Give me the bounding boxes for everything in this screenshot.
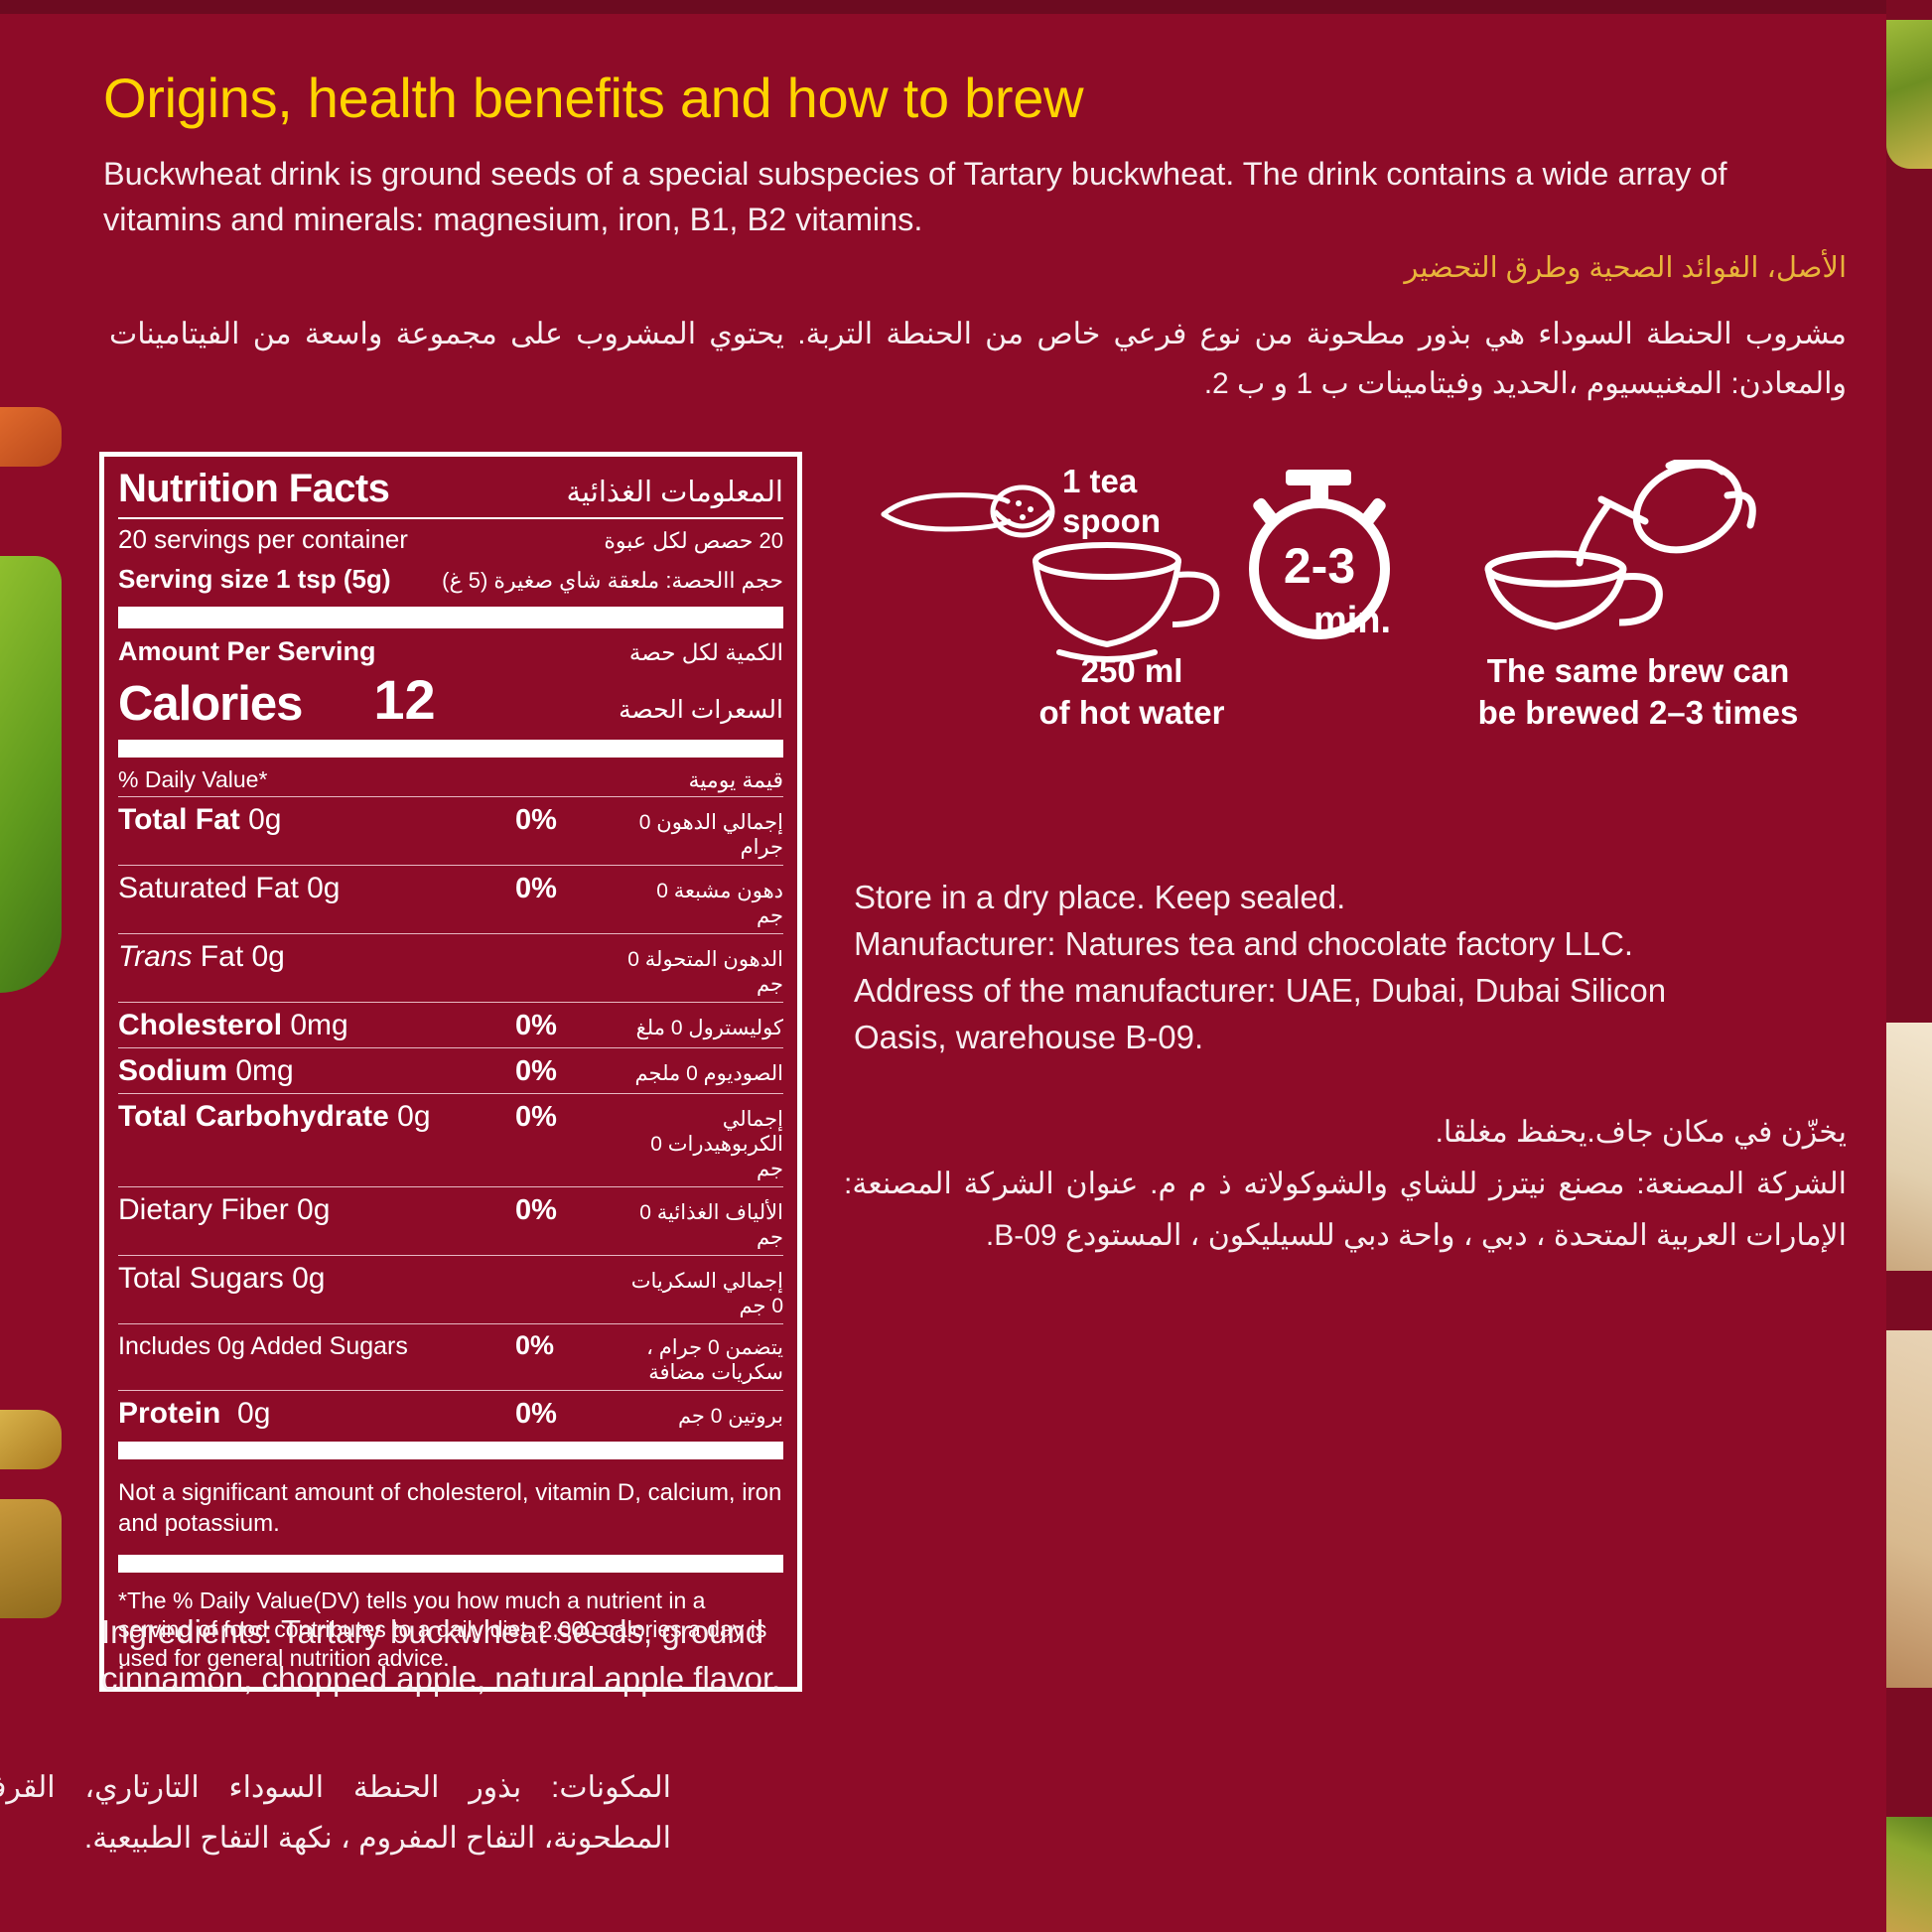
nutrient-daily-value: 0%	[515, 1398, 624, 1431]
page-title-arabic: الأصل، الفوائد الصحية وطرق التحضير	[1404, 250, 1847, 285]
nutrient-row: Protein 0g0%بروتين 0 جم	[118, 1391, 783, 1436]
brewing-instructions: 1 tea spoon 250 ml of hot water 2-3 min.	[874, 452, 1847, 779]
reuse-label-line1: The same brew can	[1430, 650, 1847, 692]
serving-size-label-arabic: حجم االحصة: ملعقة شاي صغيرة (5 غ)	[442, 568, 783, 594]
nutrient-row: Dietary Fiber 0g0%الألياف الغذائية 0 جم	[118, 1187, 783, 1255]
nutrient-row: Sodium 0mg0%الصوديوم 0 ملجم	[118, 1048, 783, 1093]
cinnamon-decoration-icon	[1886, 1023, 1932, 1271]
nutrient-name: Saturated Fat 0g	[118, 872, 515, 905]
nutrient-name-arabic: إجمالي السكريات 0 جم	[624, 1269, 783, 1318]
nutrient-name-arabic: يتضمن 0 جرام ، سكريات مضافة	[624, 1335, 783, 1385]
nutrient-name: Trans Fat 0g	[118, 940, 515, 974]
leaf-decoration-icon	[0, 1499, 62, 1618]
reuse-label: The same brew can be brewed 2–3 times	[1430, 650, 1847, 734]
daily-value-header-row: % Daily Value* قيمة يومية	[118, 763, 783, 796]
nutrient-name-arabic: الألياف الغذائية 0 جم	[624, 1200, 783, 1250]
storage-arabic-rest: الشركة المصنعة: مصنع نيترز للشاي والشوكو…	[844, 1159, 1847, 1262]
nutrient-row: Total Carbohydrate 0g0%إجمالي الكربوهيدر…	[118, 1094, 783, 1186]
leaf-decoration-icon	[0, 1410, 62, 1469]
amount-per-serving-label: Amount Per Serving	[118, 636, 376, 667]
nutrient-name-arabic: إجمالي الكربوهيدرات 0 جم	[624, 1107, 783, 1181]
water-amount-label: 250 ml of hot water	[983, 650, 1281, 734]
nutrient-daily-value: 0%	[515, 804, 624, 837]
teaspoon-label: 1 tea spoon	[1062, 462, 1161, 541]
nutrient-row: Trans Fat 0gالدهون المتحولة 0 جم	[118, 934, 783, 1002]
nutrient-daily-value: 0%	[515, 1055, 624, 1088]
timer-value-text: 2-3	[1284, 538, 1355, 594]
ingredients-english: Ingredients: Tartary buckwheat seeds, gr…	[101, 1608, 796, 1702]
right-edge-artwork	[1886, 0, 1932, 1932]
nutrient-row: Cholesterol 0mg0%كوليسترول 0 ملغ	[118, 1003, 783, 1047]
not-significant-note: Not a significant amount of cholesterol,…	[118, 1465, 783, 1549]
nutrient-name: Total Fat 0g	[118, 803, 515, 837]
water-amount-line1: 250 ml	[983, 650, 1281, 692]
calories-value: 12	[373, 667, 435, 732]
nutrient-name-arabic: بروتين 0 جم	[624, 1404, 783, 1429]
reuse-label-line2: be brewed 2–3 times	[1430, 692, 1847, 734]
servings-per-container-label: 20 servings per container	[118, 524, 408, 555]
leaf-decoration-icon	[1886, 20, 1932, 169]
serving-size-row: Serving size 1 tsp (5g) حجم االحصة: ملعق…	[118, 559, 783, 599]
nutrient-name-arabic: الدهون المتحولة 0 جم	[624, 947, 783, 997]
nutrient-daily-value: 0%	[515, 873, 624, 905]
nutrient-name: Total Carbohydrate 0g	[118, 1100, 515, 1134]
ingredients-arabic: المكونات: بذور الحنطة السوداء التارتاري،…	[0, 1762, 671, 1863]
thick-divider	[118, 740, 783, 758]
nutrient-row: Includes 0g Added Sugars0%يتضمن 0 جرام ،…	[118, 1324, 783, 1390]
nutrient-rows-container: Total Fat 0g0%إجمالي الدهون 0 جرامSatura…	[118, 796, 783, 1436]
nutrient-name-arabic: إجمالي الدهون 0 جرام	[624, 810, 783, 860]
storage-arabic-line-1: يخزّن في مكان جاف.يحفظ مغلقا.	[844, 1107, 1847, 1159]
nutrition-facts-panel: Nutrition Facts المعلومات الغذائية 20 se…	[99, 452, 802, 1692]
thick-divider	[118, 607, 783, 628]
nutrient-name: Total Sugars 0g	[118, 1262, 515, 1296]
amount-per-serving-row: Amount Per Serving الكمية لكل حصة	[118, 632, 783, 667]
nutrition-title-row: Nutrition Facts المعلومات الغذائية	[118, 467, 783, 511]
storage-line-2: Manufacturer: Natures tea and chocolate …	[854, 920, 1857, 967]
green-leaf-decoration-icon	[0, 556, 62, 993]
nutrient-name: Protein 0g	[118, 1397, 515, 1431]
calories-row: Calories 12 السعرات الحصة	[118, 667, 783, 734]
left-edge-artwork	[0, 0, 62, 1932]
nutrient-row: Total Fat 0g0%إجمالي الدهون 0 جرام	[118, 797, 783, 865]
timer-icon: 2-3 min.	[1201, 462, 1440, 650]
thick-divider	[118, 1555, 783, 1573]
nutrient-daily-value: 0%	[515, 1101, 624, 1134]
nutrient-daily-value: 0%	[515, 1010, 624, 1042]
storage-line-3: Address of the manufacturer: UAE, Dubai,…	[854, 967, 1857, 1014]
amount-per-serving-label-arabic: الكمية لكل حصة	[629, 639, 783, 666]
pouring-teapot-icon	[1474, 460, 1772, 633]
intro-paragraph-arabic: مشروب الحنطة السوداء هي بذور مطحونة من ن…	[109, 310, 1847, 409]
servings-per-container-label-arabic: 20 حصص لكل عبوة	[604, 528, 783, 554]
storage-line-4: Oasis, warehouse B-09.	[854, 1014, 1857, 1060]
leaf-decoration-icon	[1886, 1817, 1932, 1932]
nutrient-name: Cholesterol 0mg	[118, 1009, 515, 1042]
nutrient-daily-value: 0%	[515, 1330, 624, 1361]
package-back-panel: Origins, health benefits and how to brew…	[0, 0, 1932, 1932]
nutrient-row: Saturated Fat 0g0%دهون مشبعة 0 جم	[118, 866, 783, 933]
water-amount-line2: of hot water	[983, 692, 1281, 734]
nutrient-name-arabic: كوليسترول 0 ملغ	[624, 1016, 783, 1040]
nutrient-row: Total Sugars 0gإجمالي السكريات 0 جم	[118, 1256, 783, 1323]
storage-line-1: Store in a dry place. Keep sealed.	[854, 874, 1857, 920]
leaf-decoration-icon	[0, 407, 62, 467]
teaspoon-label-line2: spoon	[1062, 501, 1161, 541]
storage-info-arabic: يخزّن في مكان جاف.يحفظ مغلقا. الشركة الم…	[844, 1107, 1847, 1262]
nutrient-daily-value: 0%	[515, 1194, 624, 1227]
nutrient-name: Sodium 0mg	[118, 1054, 515, 1088]
calories-label: Calories	[118, 676, 302, 732]
thick-divider	[118, 1442, 783, 1459]
teaspoon-label-line1: 1 tea	[1062, 462, 1161, 501]
top-edge-strip	[0, 0, 1932, 14]
page-title: Origins, health benefits and how to brew	[103, 66, 1083, 130]
calories-label-arabic: السعرات الحصة	[619, 695, 783, 732]
cinnamon-decoration-icon	[1886, 1330, 1932, 1688]
serving-size-label: Serving size 1 tsp (5g)	[118, 564, 391, 595]
intro-paragraph-english: Buckwheat drink is ground seeds of a spe…	[103, 151, 1841, 242]
nutrient-name: Dietary Fiber 0g	[118, 1193, 515, 1227]
nutrition-facts-title-arabic: المعلومات الغذائية	[567, 475, 784, 509]
nutrient-name-arabic: دهون مشبعة 0 جم	[624, 879, 783, 928]
servings-per-container-row: 20 servings per container 20 حصص لكل عبو…	[118, 519, 783, 559]
nutrient-name: Includes 0g Added Sugars	[118, 1332, 515, 1361]
timer-unit-text: min.	[1313, 600, 1391, 641]
daily-value-header: % Daily Value*	[118, 766, 267, 793]
nutrition-facts-title: Nutrition Facts	[118, 467, 389, 511]
nutrient-name-arabic: الصوديوم 0 ملجم	[624, 1061, 783, 1086]
storage-info-english: Store in a dry place. Keep sealed. Manuf…	[854, 874, 1857, 1060]
daily-value-header-arabic: قيمة يومية	[689, 767, 784, 793]
